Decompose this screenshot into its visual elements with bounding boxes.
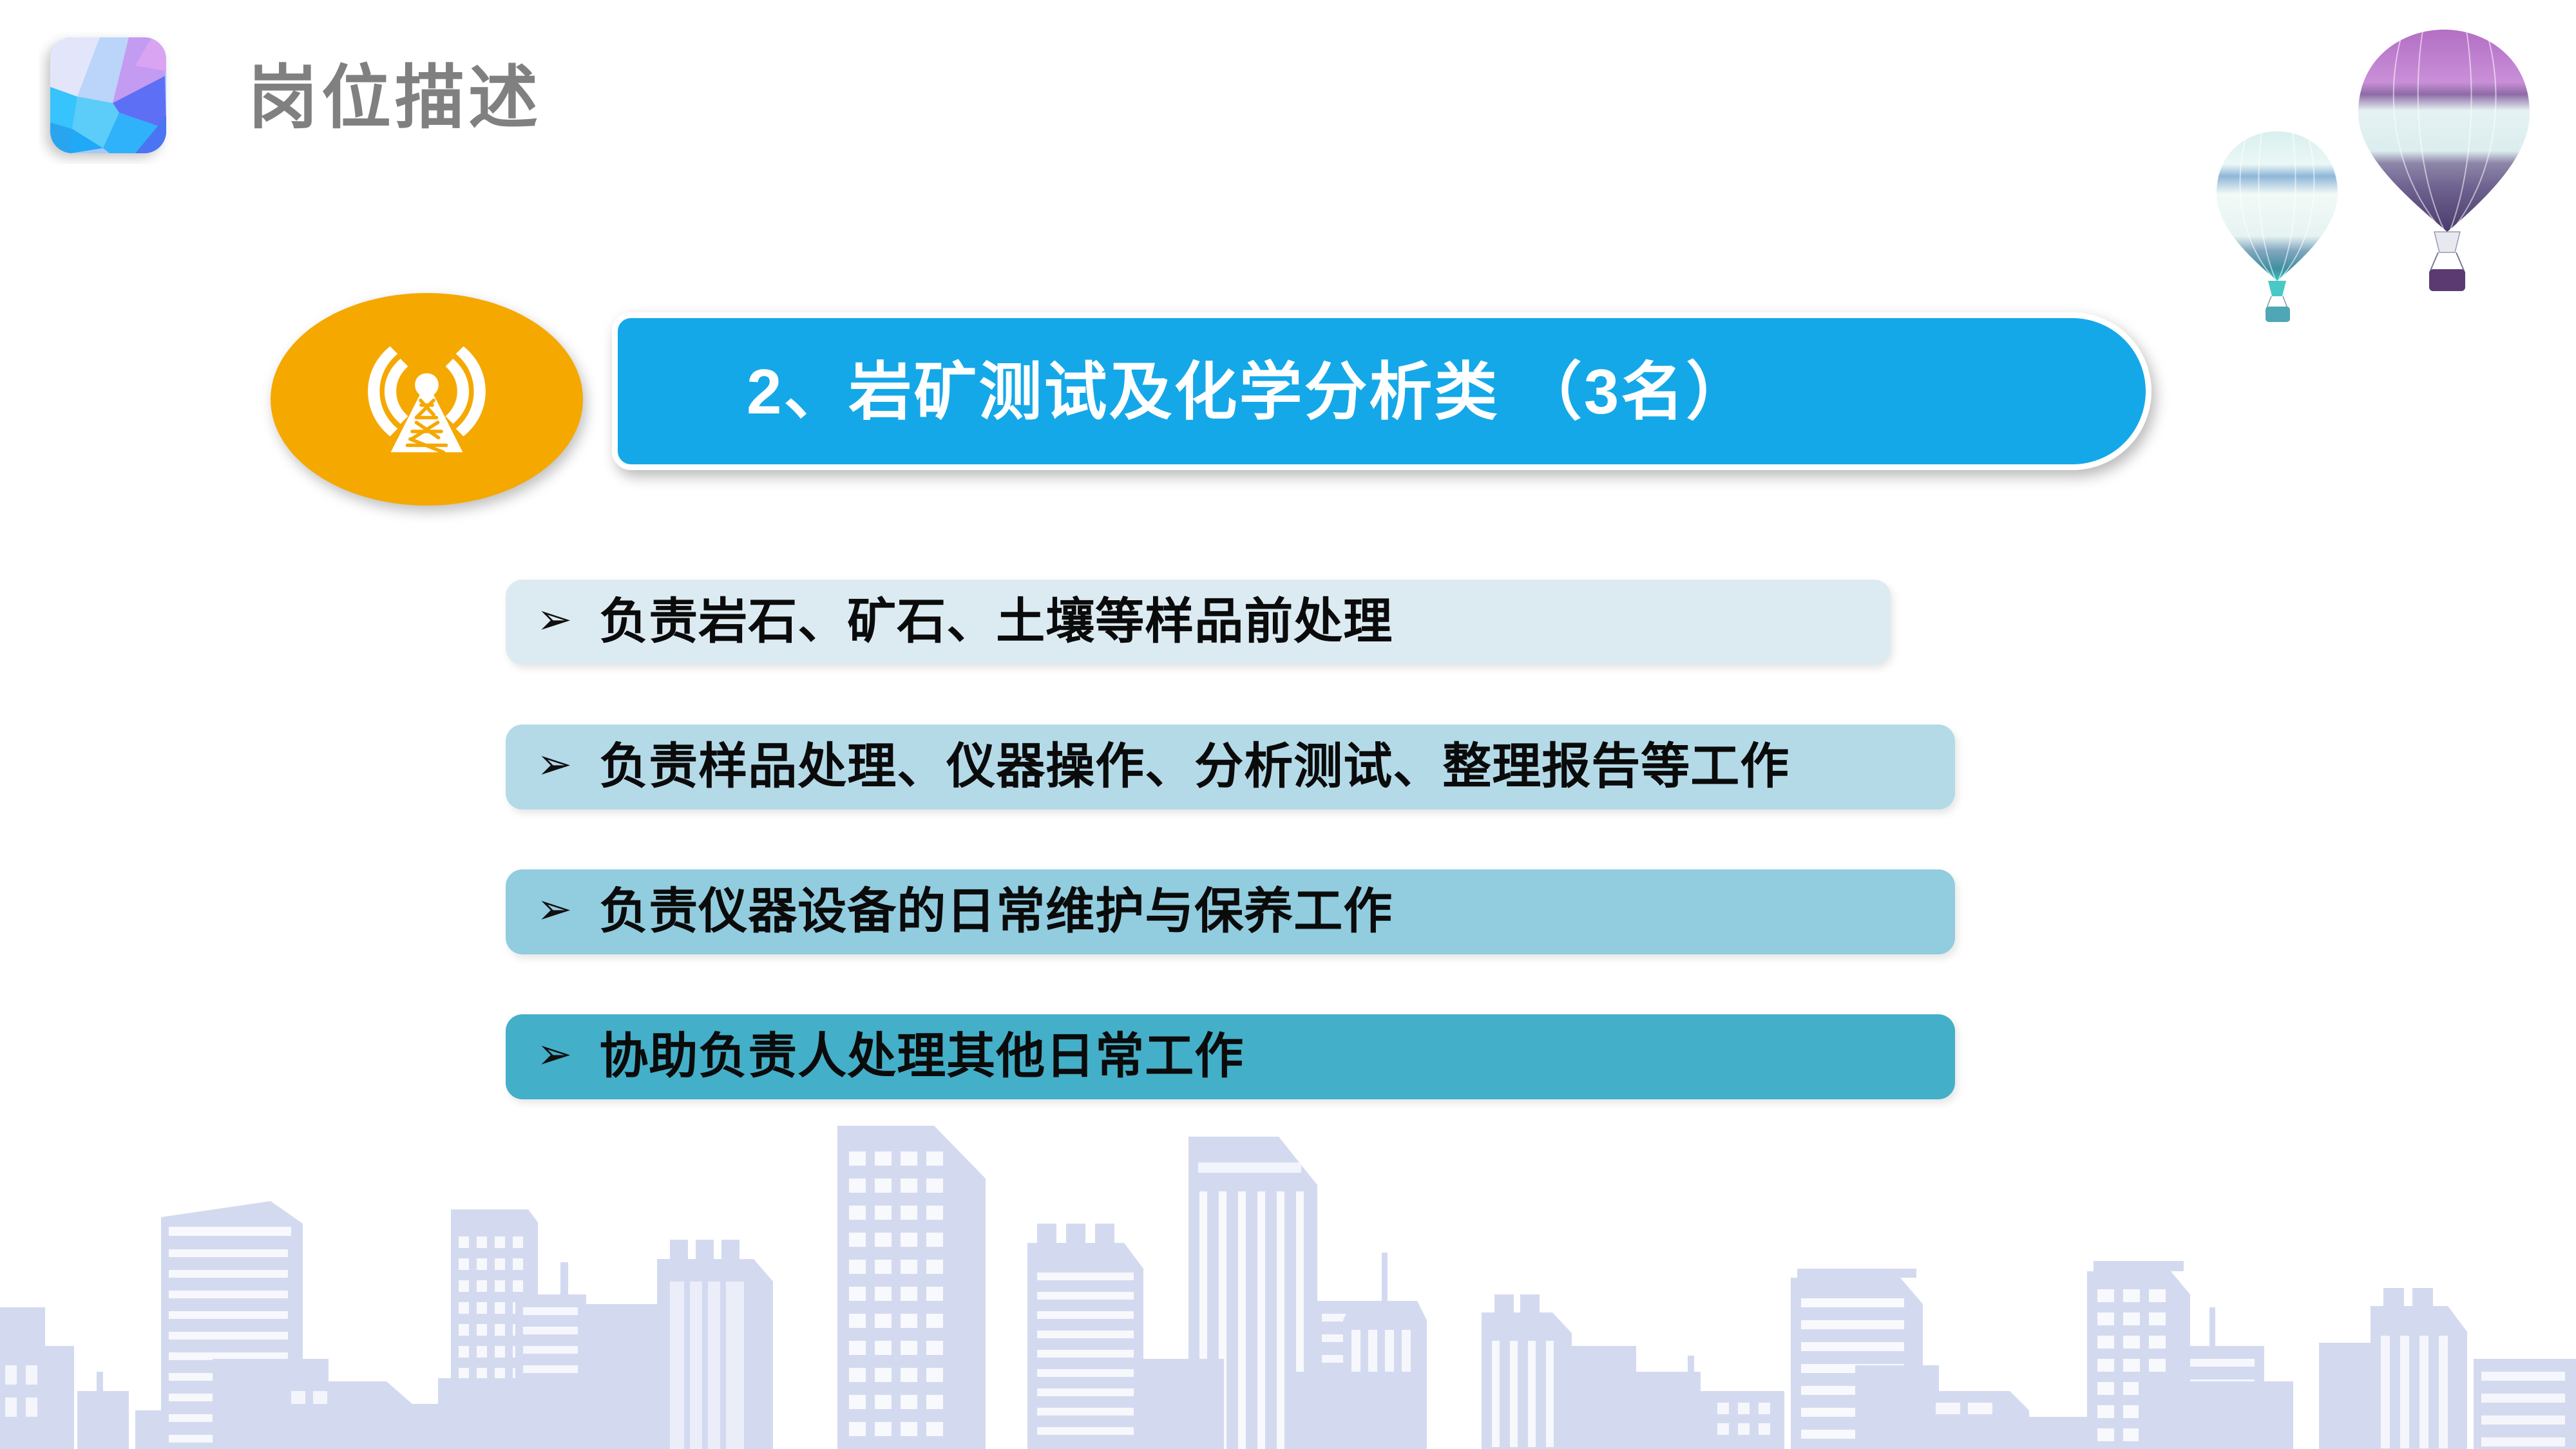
city-skyline-icon	[0, 1088, 2576, 1449]
bullet-arrow-icon: ➢	[537, 598, 572, 641]
page-title: 岗位描述	[248, 63, 542, 133]
list-item-label: 协助负责人处理其他日常工作	[599, 1032, 1244, 1081]
section-banner: 2、岩矿测试及化学分析类 （3名）	[271, 293, 2171, 506]
list-item-label: 负责仪器设备的日常维护与保养工作	[599, 887, 1393, 936]
slide-canvas: 岗位描述	[0, 0, 2576, 1449]
banner-title: 2、岩矿测试及化学分析类 （3名）	[747, 360, 1751, 423]
banner-badge	[271, 293, 583, 506]
bullet-arrow-icon: ➢	[537, 1033, 572, 1075]
list-item[interactable]: ➢ 负责样品处理、仪器操作、分析测试、整理报告等工作	[506, 724, 1955, 810]
list-item[interactable]: ➢ 负责岩石、矿石、土壤等样品前处理	[506, 580, 1891, 665]
radio-tower-icon	[358, 330, 496, 469]
banner-bar[interactable]: 2、岩矿测试及化学分析类 （3名）	[612, 312, 2151, 470]
duties-list: ➢ 负责岩石、矿石、土壤等样品前处理 ➢ 负责样品处理、仪器操作、分析测试、整理…	[506, 580, 1958, 1099]
bullet-arrow-icon: ➢	[537, 888, 572, 931]
hot-air-balloons-icon	[2190, 0, 2576, 322]
list-item[interactable]: ➢ 协助负责人处理其他日常工作	[506, 1014, 1955, 1099]
list-item[interactable]: ➢ 负责仪器设备的日常维护与保养工作	[506, 869, 1955, 954]
list-item-label: 负责岩石、矿石、土壤等样品前处理	[599, 598, 1393, 647]
list-item-label: 负责样品处理、仪器操作、分析测试、整理报告等工作	[599, 743, 1789, 791]
slide-header: 岗位描述	[39, 26, 542, 164]
crystal-gem-icon	[39, 26, 177, 164]
bullet-arrow-icon: ➢	[537, 743, 572, 786]
